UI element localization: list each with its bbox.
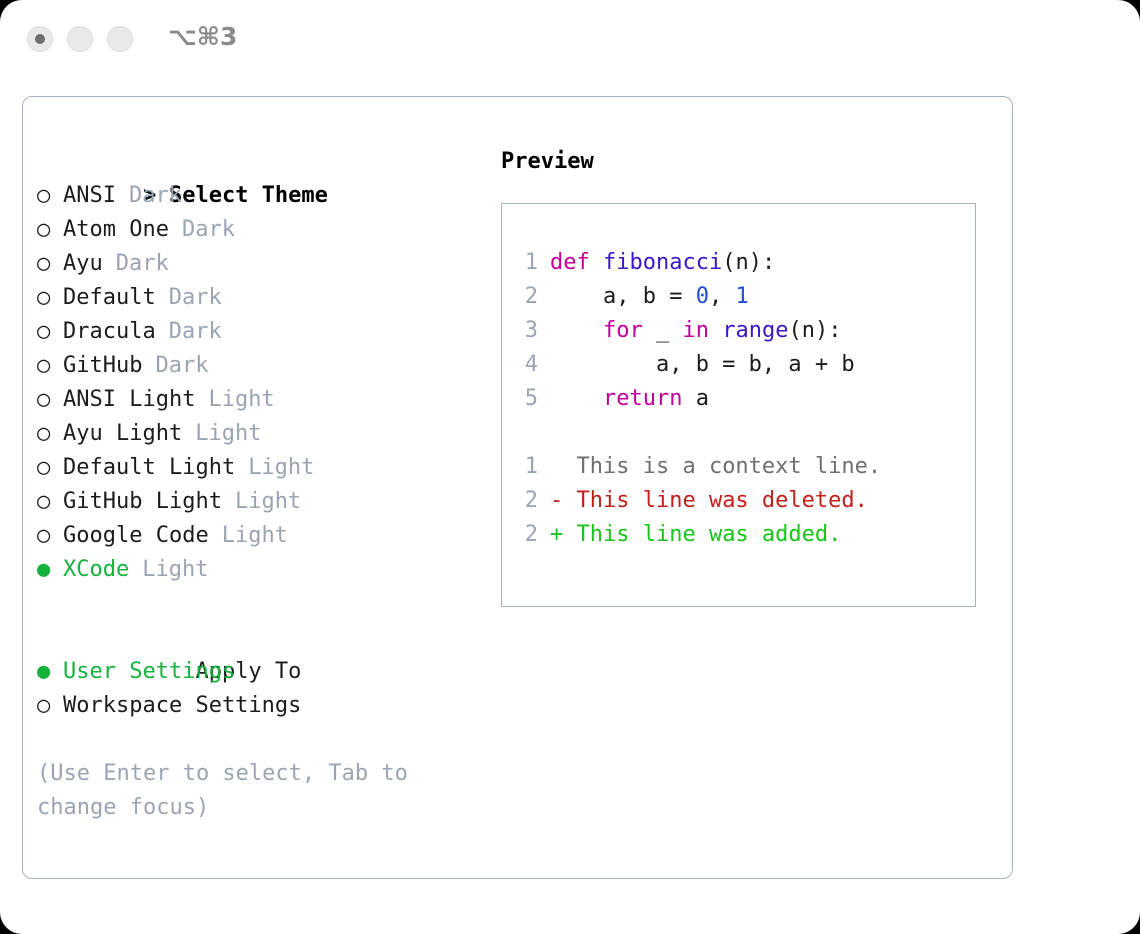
diff-sign-icon: + — [550, 522, 563, 547]
apply-to-label-row: Apply To — [37, 621, 497, 655]
radio-unselected-icon: ○ — [37, 315, 63, 349]
window-dot-3[interactable] — [107, 26, 133, 52]
code-token — [550, 318, 603, 343]
code-line: 2 a, b = 0, 1 — [516, 280, 967, 314]
code-token: (n): — [722, 250, 775, 275]
theme-item-ayu-light[interactable]: ○Ayu LightLight — [37, 417, 497, 451]
theme-item-github[interactable]: ○GitHubDark — [37, 349, 497, 383]
hint-text: (Use Enter to select, Tab to change focu… — [37, 757, 447, 825]
theme-item-label: Default Light — [63, 455, 235, 480]
main-panel: >Select Theme ○ANSIDark○Atom OneDark○Ayu… — [22, 96, 1013, 879]
code-token: a, b = b, a + b — [550, 352, 855, 377]
code-line: 5 return a — [516, 382, 967, 416]
app-window: ⌥⌘3 >Select Theme ○ANSIDark○Atom OneDark… — [0, 0, 1140, 934]
code-line: 4 a, b = b, a + b — [516, 348, 967, 382]
code-token: _ — [643, 318, 683, 343]
keyboard-shortcut-label: ⌥⌘3 — [168, 22, 237, 51]
theme-item-label: ANSI — [63, 183, 116, 208]
theme-item-label: ANSI Light — [63, 387, 195, 412]
code-line: 3 for _ in range(n): — [516, 314, 967, 348]
preview-title: Preview — [501, 145, 1001, 179]
window-titlebar: ⌥⌘3 — [0, 0, 1140, 78]
code-token: range — [722, 318, 788, 343]
diff-line-add: 2+ This line was added. — [516, 518, 967, 552]
code-token: 0 — [696, 284, 709, 309]
radio-unselected-icon: ○ — [37, 485, 63, 519]
theme-item-category: Light — [129, 557, 208, 582]
diff-sign-icon — [550, 454, 563, 479]
radio-selected-icon: ● — [37, 655, 63, 689]
theme-item-dracula[interactable]: ○DraculaDark — [37, 315, 497, 349]
radio-unselected-icon: ○ — [37, 451, 63, 485]
theme-item-github-light[interactable]: ○GitHub LightLight — [37, 485, 497, 519]
code-token: 1 — [735, 284, 748, 309]
theme-item-category: Light — [222, 489, 301, 514]
code-token: , — [709, 284, 736, 309]
theme-item-label: Dracula — [63, 319, 156, 344]
code-line-number: 4 — [516, 348, 538, 382]
code-token: def — [550, 250, 603, 275]
radio-unselected-icon: ○ — [37, 247, 63, 281]
theme-item-category: Light — [209, 523, 288, 548]
theme-item-category: Dark — [116, 183, 182, 208]
radio-unselected-icon: ○ — [37, 349, 63, 383]
theme-item-label: XCode — [63, 557, 129, 582]
preview-column: Preview 1def fibonacci(n):2 a, b = 0, 13… — [501, 145, 1001, 607]
code-token: a, b = — [550, 284, 696, 309]
radio-selected-icon: ● — [37, 553, 63, 587]
theme-item-category: Dark — [156, 285, 222, 310]
theme-selector-list: >Select Theme ○ANSIDark○Atom OneDark○Ayu… — [37, 145, 497, 825]
apply-to-option-label: User Settings — [63, 659, 235, 684]
select-theme-header-label: Select Theme — [169, 183, 328, 208]
apply-to-option-workspace-settings[interactable]: ○Workspace Settings — [37, 689, 497, 723]
code-diff-separator — [516, 416, 967, 450]
code-token: for — [603, 318, 643, 343]
code-line: 1def fibonacci(n): — [516, 246, 967, 280]
theme-item-category: Dark — [103, 251, 169, 276]
radio-unselected-icon: ○ — [37, 519, 63, 553]
code-token — [709, 318, 722, 343]
select-theme-header: >Select Theme — [37, 145, 497, 179]
diff-line-number: 1 — [516, 450, 538, 484]
code-token: (n): — [788, 318, 841, 343]
window-dot-active-indicator — [35, 34, 45, 44]
window-dot-2[interactable] — [67, 26, 93, 52]
theme-item-category: Light — [235, 455, 314, 480]
theme-item-ayu[interactable]: ○AyuDark — [37, 247, 497, 281]
code-line-number: 3 — [516, 314, 538, 348]
diff-line-number: 2 — [516, 518, 538, 552]
code-token — [550, 386, 603, 411]
radio-unselected-icon: ○ — [37, 179, 63, 213]
radio-unselected-icon: ○ — [37, 383, 63, 417]
code-line-number: 1 — [516, 246, 538, 280]
theme-item-label: Atom One — [63, 217, 169, 242]
theme-rows: ○ANSIDark○Atom OneDark○AyuDark○DefaultDa… — [37, 179, 497, 587]
preview-box: 1def fibonacci(n):2 a, b = 0, 13 for _ i… — [501, 203, 976, 607]
code-line-number: 5 — [516, 382, 538, 416]
radio-unselected-icon: ○ — [37, 213, 63, 247]
theme-item-label: Default — [63, 285, 156, 310]
diff-line-ctx: 1 This is a context line. — [516, 450, 967, 484]
theme-item-label: Ayu — [63, 251, 103, 276]
radio-unselected-icon: ○ — [37, 281, 63, 315]
theme-item-label: Ayu Light — [63, 421, 182, 446]
code-preview-area: 1def fibonacci(n):2 a, b = 0, 13 for _ i… — [516, 246, 967, 552]
apply-to-group: Apply To ●User Settings○Workspace Settin… — [37, 621, 497, 723]
diff-line-del: 2- This line was deleted. — [516, 484, 967, 518]
theme-item-label: GitHub — [63, 353, 142, 378]
code-token: fibonacci — [603, 250, 722, 275]
diff-line-text: This line was added. — [563, 522, 841, 547]
theme-item-category: Dark — [169, 217, 235, 242]
theme-item-default[interactable]: ○DefaultDark — [37, 281, 497, 315]
theme-item-default-light[interactable]: ○Default LightLight — [37, 451, 497, 485]
theme-item-category: Dark — [156, 319, 222, 344]
diff-sign-icon: - — [550, 488, 563, 513]
diff-line-text: This is a context line. — [563, 454, 881, 479]
theme-item-label: GitHub Light — [63, 489, 222, 514]
radio-unselected-icon: ○ — [37, 689, 63, 723]
apply-to-option-label: Workspace Settings — [63, 693, 301, 718]
theme-item-category: Light — [182, 421, 261, 446]
theme-item-ansi-light[interactable]: ○ANSI LightLight — [37, 383, 497, 417]
theme-item-atom-one[interactable]: ○Atom OneDark — [37, 213, 497, 247]
theme-item-category: Light — [195, 387, 274, 412]
theme-item-google-code[interactable]: ○Google CodeLight — [37, 519, 497, 553]
theme-item-category: Dark — [142, 353, 208, 378]
radio-unselected-icon: ○ — [37, 417, 63, 451]
code-token: a — [682, 386, 709, 411]
theme-item-label: Google Code — [63, 523, 209, 548]
diff-line-text: This line was deleted. — [563, 488, 868, 513]
code-token: in — [682, 318, 709, 343]
diff-line-number: 2 — [516, 484, 538, 518]
theme-item-xcode[interactable]: ●XCodeLight — [37, 553, 497, 587]
code-line-number: 2 — [516, 280, 538, 314]
code-token: return — [603, 386, 682, 411]
